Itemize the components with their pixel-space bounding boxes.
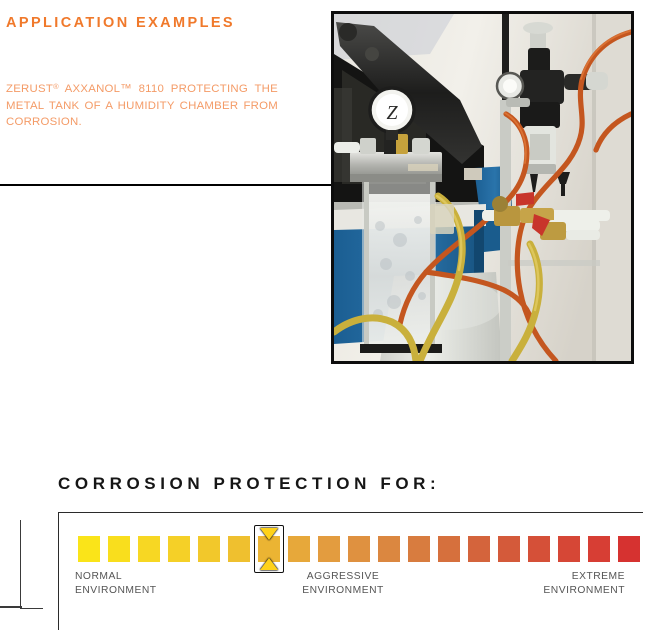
scale-swatch-color (288, 536, 310, 562)
page-title: APPLICATION EXAMPLES (6, 15, 235, 31)
scale-swatch-color (618, 536, 640, 562)
scale-swatch[interactable] (498, 536, 520, 562)
scale-swatch-color (228, 536, 250, 562)
svg-text:Z: Z (386, 102, 398, 124)
brand-zerust: ZERUST (6, 83, 53, 95)
photo-illustration: Z (334, 14, 631, 361)
scale-swatch-color (498, 536, 520, 562)
left-bracket-rule (20, 520, 43, 609)
caption-line-1-rest: AXXANOL™ 8110 PROTECTING (59, 83, 248, 95)
scale-swatch[interactable] (198, 536, 220, 562)
marker-triangle-down-icon (260, 528, 278, 540)
scale-swatch-color (108, 536, 130, 562)
scale-swatch-color (348, 536, 370, 562)
scale-label-aggressive: AGGRESSIVE ENVIRONMENT (228, 570, 458, 597)
scale-swatch[interactable] (588, 536, 610, 562)
scale-swatch[interactable] (528, 536, 550, 562)
scale-swatch[interactable] (618, 536, 640, 562)
horizontal-divider (0, 184, 336, 186)
scale-swatch-color (168, 536, 190, 562)
scale-swatch[interactable] (108, 536, 130, 562)
scale-swatch[interactable] (378, 536, 400, 562)
scale-swatch[interactable] (168, 536, 190, 562)
scale-swatch[interactable] (438, 536, 460, 562)
scale-swatch[interactable] (138, 536, 160, 562)
scale-swatch-color (558, 536, 580, 562)
corrosion-severity-scale[interactable] (78, 536, 640, 562)
scale-swatch[interactable] (468, 536, 490, 562)
scale-swatch-color (588, 536, 610, 562)
application-caption: ZERUST® AXXANOL™ 8110 PROTECTING THE MET… (6, 79, 278, 131)
scale-swatch-color (438, 536, 460, 562)
scale-swatch-color (378, 536, 400, 562)
scale-label-extreme: EXTREME ENVIRONMENT (543, 570, 625, 597)
scale-swatch[interactable] (78, 536, 100, 562)
scale-swatch-color (408, 536, 430, 562)
scale-swatch[interactable] (408, 536, 430, 562)
scale-swatch[interactable] (348, 536, 370, 562)
caption-line-1: ZERUST® AXXANOL™ 8110 PROTECTING (6, 83, 248, 95)
scale-swatch[interactable] (288, 536, 310, 562)
scale-swatch[interactable] (258, 536, 280, 562)
scale-swatch-color (138, 536, 160, 562)
corrosion-protection-title: CORROSION PROTECTION FOR: (58, 474, 440, 494)
scale-swatch-color (198, 536, 220, 562)
scale-swatch[interactable] (228, 536, 250, 562)
left-bracket-stub-rule (0, 606, 22, 608)
application-photo: Z (331, 11, 634, 364)
scale-swatch[interactable] (318, 536, 340, 562)
scale-label-normal: NORMAL ENVIRONMENT (75, 570, 157, 597)
scale-swatch-color (528, 536, 550, 562)
scale-swatch-color (318, 536, 340, 562)
marker-triangle-up-icon (260, 558, 278, 570)
scale-swatch[interactable] (558, 536, 580, 562)
scale-swatch-color (78, 536, 100, 562)
scale-swatch-color (468, 536, 490, 562)
